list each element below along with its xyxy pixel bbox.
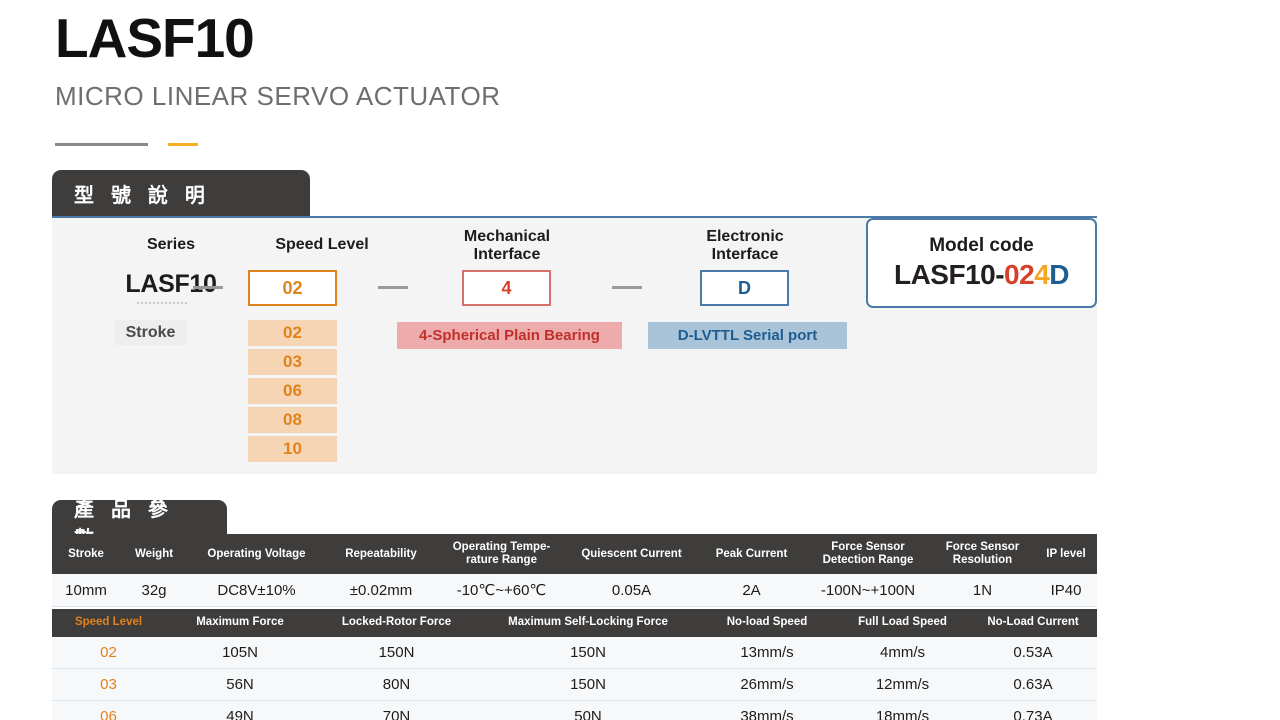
- electronic-interface-heading-line2: Interface: [712, 246, 779, 263]
- table-row: 0649N70N50N38mm/s18mm/s0.73A: [52, 700, 1097, 720]
- cell-3: 150N: [478, 637, 698, 669]
- column-header-8: Force Sensor Resolution: [930, 534, 1035, 574]
- cell-6: 0.63A: [969, 668, 1097, 700]
- model-code-speed: 02: [1004, 259, 1034, 290]
- speed-table-body: 02105N150N150N13mm/s4mm/s0.53A0356N80N15…: [52, 637, 1097, 720]
- cell-2: 150N: [315, 637, 478, 669]
- table-row: 02105N150N150N13mm/s4mm/s0.53A: [52, 637, 1097, 669]
- column-header-1: Maximum Force: [165, 609, 315, 636]
- cell-0: 10mm: [52, 574, 120, 607]
- series-heading: Series: [116, 236, 226, 254]
- model-code-elec: D: [1049, 259, 1069, 290]
- series-value: LASF10: [66, 270, 276, 299]
- rule-gold: [168, 143, 198, 146]
- speed-option-02[interactable]: 02: [248, 320, 337, 346]
- dash-separator-3: [612, 286, 642, 289]
- cell-1: 32g: [120, 574, 188, 607]
- spec-table-body: 10mm32gDC8V±10%±0.02mm-10℃~+60℃0.05A2A-1…: [52, 574, 1097, 607]
- cell-4: 13mm/s: [698, 637, 836, 669]
- cell-5: 0.05A: [566, 574, 697, 607]
- model-code-mech: 4: [1034, 259, 1049, 290]
- dash-separator-1: [193, 286, 223, 289]
- electronic-interface-tag: D-LVTTL Serial port: [648, 322, 847, 349]
- mechanical-interface-heading-line1: Mechanical: [464, 228, 550, 245]
- title-underline-rules: [55, 143, 198, 146]
- speed-table-header-row: Speed LevelMaximum ForceLocked-Rotor For…: [52, 609, 1097, 636]
- column-header-5: Full Load Speed: [836, 609, 969, 636]
- table-row: 0356N80N150N26mm/s12mm/s0.63A: [52, 668, 1097, 700]
- speed-option-10[interactable]: 10: [248, 436, 337, 462]
- column-header-5: Quiescent Current: [566, 534, 697, 574]
- mechanical-interface-heading: Mechanical Interface: [419, 228, 595, 264]
- column-header-3: Maximum Self-Locking Force: [478, 609, 698, 636]
- column-header-6: No-Load Current: [969, 609, 1097, 636]
- stroke-label: Stroke: [114, 320, 187, 345]
- column-header-4: Operating Tempe-rature Range: [437, 534, 566, 574]
- column-header-7: Force Sensor Detection Range: [806, 534, 930, 574]
- column-header-0: Speed Level: [52, 609, 165, 636]
- table-row: 10mm32gDC8V±10%±0.02mm-10℃~+60℃0.05A2A-1…: [52, 574, 1097, 607]
- cell-1: 49N: [165, 700, 315, 720]
- cell-6: 0.73A: [969, 700, 1097, 720]
- series-dotted-underline: [137, 302, 187, 304]
- page-subtitle: MICRO LINEAR SERVO ACTUATOR: [55, 81, 500, 112]
- mechanical-interface-heading-line2: Interface: [474, 246, 541, 263]
- model-code-result-box: Model code LASF10-024D: [866, 218, 1097, 308]
- electronic-interface-heading: Electronic Interface: [657, 228, 833, 264]
- cell-5: 12mm/s: [836, 668, 969, 700]
- speed-option-06[interactable]: 06: [248, 378, 337, 404]
- dash-separator-2: [378, 286, 408, 289]
- column-header-6: Peak Current: [697, 534, 806, 574]
- cell-0: 02: [52, 637, 165, 669]
- parameter-tables: StrokeWeightOperating VoltageRepeatabili…: [52, 534, 1097, 720]
- column-header-4: No-load Speed: [698, 609, 836, 636]
- model-code-base: LASF10-: [894, 259, 1004, 290]
- electronic-interface-heading-line1: Electronic: [706, 228, 783, 245]
- mechanical-interface-tag: 4-Spherical Plain Bearing: [397, 322, 622, 349]
- model-code-result-label: Model code: [929, 235, 1034, 257]
- cell-6: 2A: [697, 574, 806, 607]
- cell-9: IP40: [1035, 574, 1097, 607]
- column-header-0: Stroke: [52, 534, 120, 574]
- mechanical-interface-value-box[interactable]: 4: [462, 270, 551, 306]
- cell-2: 80N: [315, 668, 478, 700]
- cell-5: 4mm/s: [836, 637, 969, 669]
- spec-table-header-row: StrokeWeightOperating VoltageRepeatabili…: [52, 534, 1097, 574]
- cell-3: 50N: [478, 700, 698, 720]
- section-header-model-description: 型 號 說 明: [52, 170, 310, 216]
- speed-table: Speed LevelMaximum ForceLocked-Rotor For…: [52, 609, 1097, 720]
- cell-3: 150N: [478, 668, 698, 700]
- column-header-2: Operating Voltage: [188, 534, 325, 574]
- model-code-result-value: LASF10-024D: [894, 259, 1069, 291]
- cell-0: 06: [52, 700, 165, 720]
- cell-4: 26mm/s: [698, 668, 836, 700]
- column-header-9: IP level: [1035, 534, 1097, 574]
- speed-level-value-box[interactable]: 02: [248, 270, 337, 306]
- cell-5: 18mm/s: [836, 700, 969, 720]
- cell-1: 105N: [165, 637, 315, 669]
- product-spec-page: LASF10 MICRO LINEAR SERVO ACTUATOR 型 號 說…: [0, 0, 1280, 720]
- column-header-2: Locked-Rotor Force: [315, 609, 478, 636]
- cell-8: 1N: [930, 574, 1035, 607]
- speed-option-08[interactable]: 08: [248, 407, 337, 433]
- cell-3: ±0.02mm: [325, 574, 437, 607]
- cell-2: DC8V±10%: [188, 574, 325, 607]
- page-title: LASF10: [55, 8, 500, 69]
- cell-0: 03: [52, 668, 165, 700]
- speed-option-03[interactable]: 03: [248, 349, 337, 375]
- cell-6: 0.53A: [969, 637, 1097, 669]
- column-header-1: Weight: [120, 534, 188, 574]
- cell-7: -100N~+100N: [806, 574, 930, 607]
- cell-2: 70N: [315, 700, 478, 720]
- cell-4: 38mm/s: [698, 700, 836, 720]
- rule-gray: [55, 143, 148, 146]
- column-header-3: Repeatability: [325, 534, 437, 574]
- cell-4: -10℃~+60℃: [437, 574, 566, 607]
- speed-level-heading: Speed Level: [227, 236, 417, 254]
- spec-table: StrokeWeightOperating VoltageRepeatabili…: [52, 534, 1097, 607]
- cell-1: 56N: [165, 668, 315, 700]
- title-block: LASF10 MICRO LINEAR SERVO ACTUATOR: [55, 8, 500, 112]
- electronic-interface-value-box[interactable]: D: [700, 270, 789, 306]
